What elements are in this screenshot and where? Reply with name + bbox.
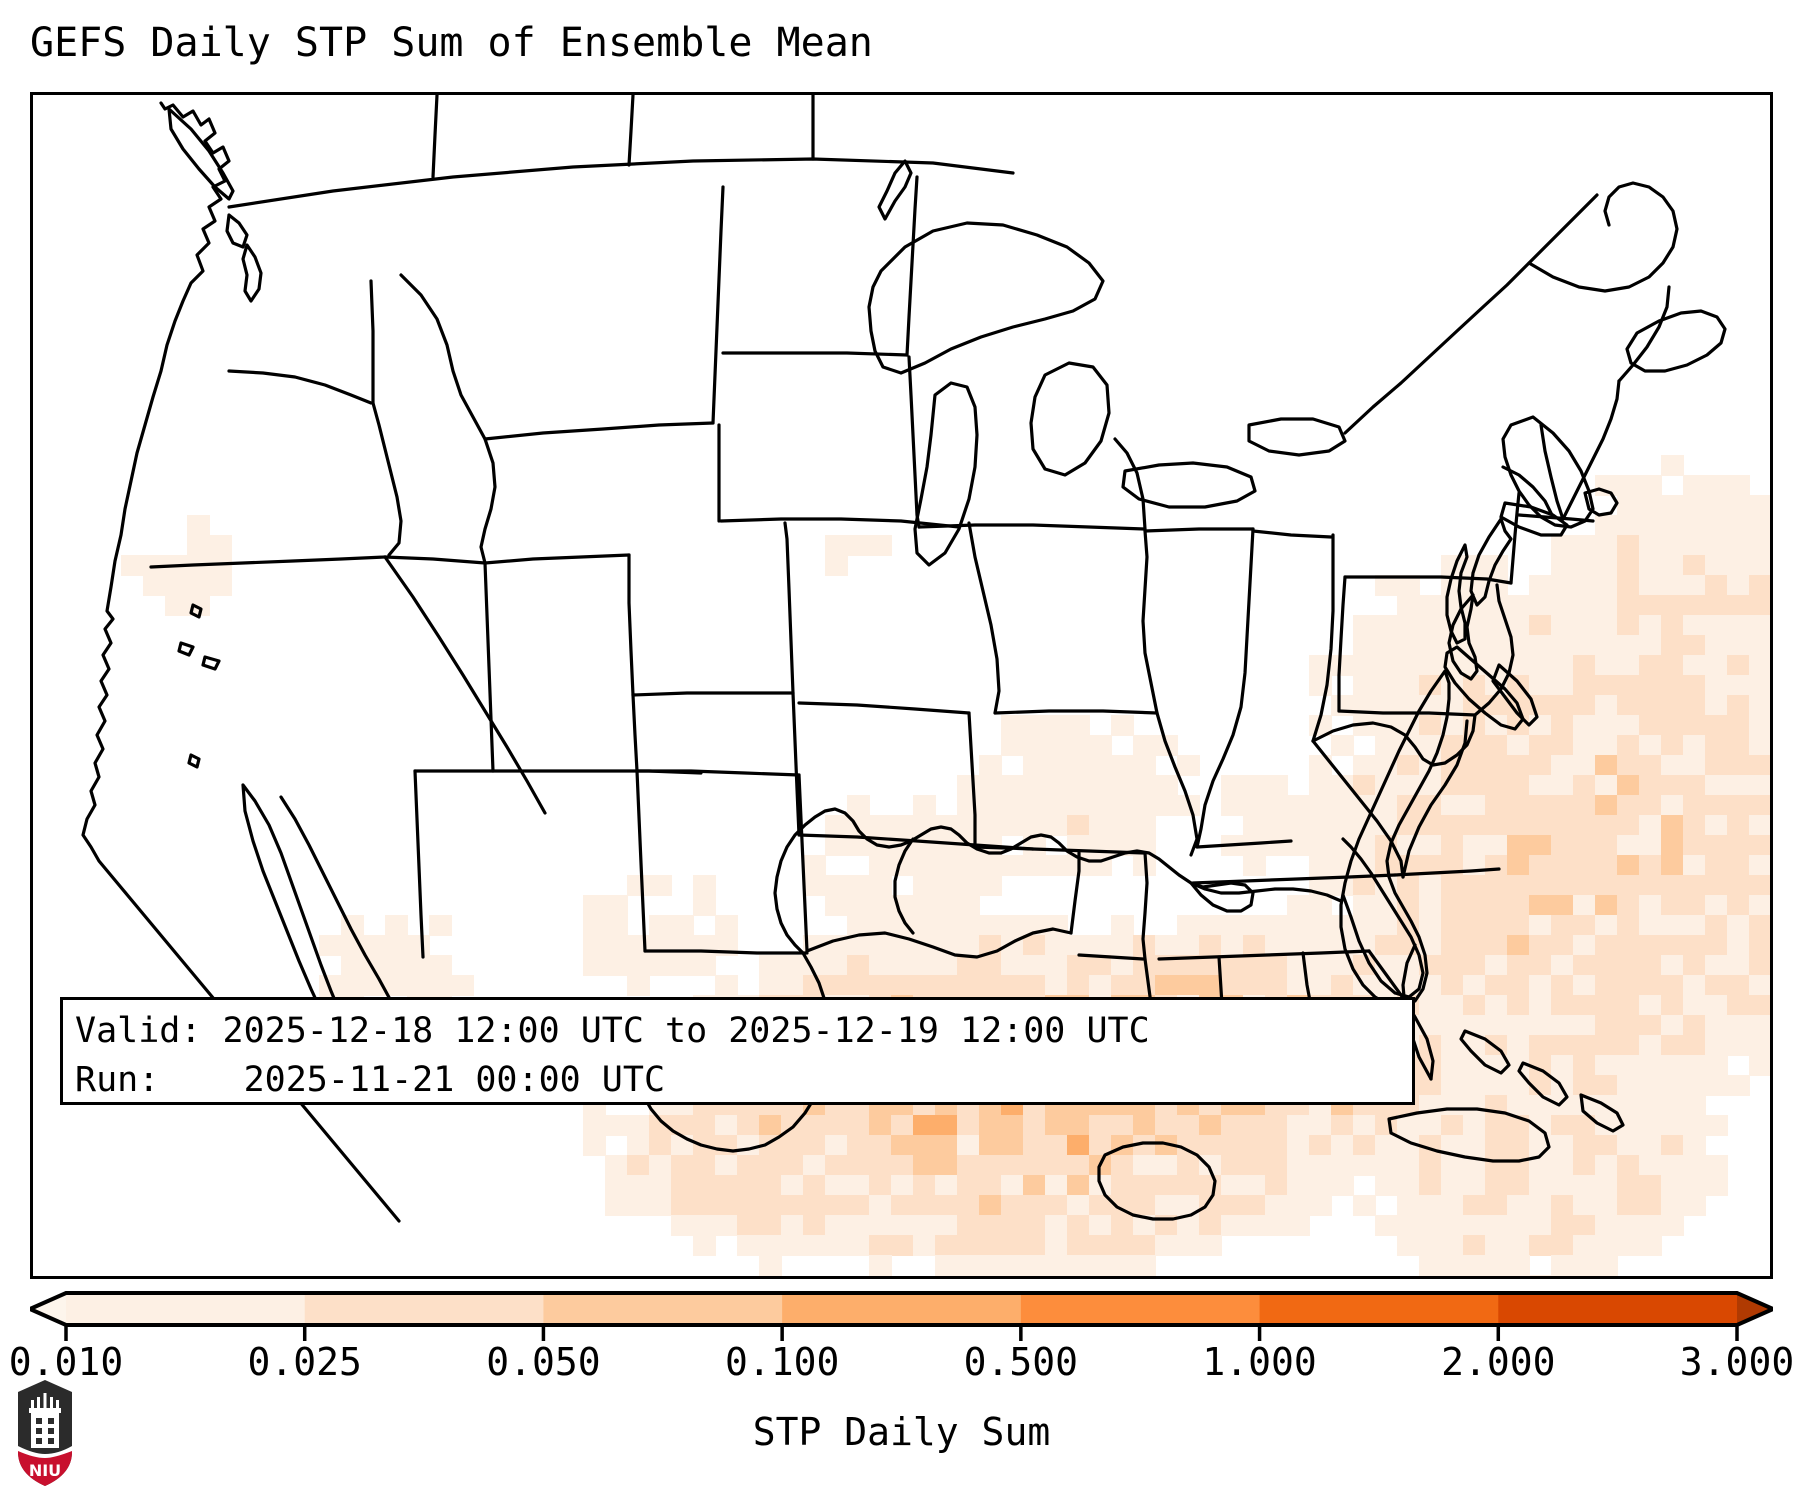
nova-scotia xyxy=(1627,311,1725,371)
page-title: GEFS Daily STP Sum of Ensemble Mean xyxy=(30,20,873,66)
border-ut-co xyxy=(633,695,637,771)
border-sd-mn-ia xyxy=(909,357,919,527)
mississippi-delta xyxy=(1191,883,1253,911)
border-id-wy-ut xyxy=(485,555,629,563)
niu-shield-icon: NIU xyxy=(14,1378,76,1488)
border-az-nm xyxy=(637,771,645,951)
run-time-line: Run: 2025-11-21 00:00 UTC xyxy=(75,1056,1400,1105)
border-in-oh xyxy=(1313,535,1333,741)
border-ky-tn xyxy=(1193,875,1395,883)
border-mo-il-ky xyxy=(1157,713,1197,855)
colorbar-tick-label: 0.025 xyxy=(248,1340,362,1384)
border-wa-or xyxy=(229,371,371,403)
colorbar-band xyxy=(543,1293,782,1325)
cape-cod xyxy=(1585,489,1617,515)
colorbar-band xyxy=(1021,1293,1260,1325)
canada-provincial-bc-ab xyxy=(433,95,437,177)
border-mn-wi xyxy=(1115,439,1145,529)
channel-islands-a xyxy=(179,643,193,655)
valid-time-line: Valid: 2025-12-18 12:00 UTC to 2025-12-1… xyxy=(75,1007,1400,1056)
gulf-of-california xyxy=(281,797,403,1021)
st-lawrence-river xyxy=(1345,195,1597,433)
border-ar-la-tx xyxy=(1071,853,1079,933)
border-ca-nv xyxy=(385,557,545,813)
colorbar-tick-label: 0.500 xyxy=(964,1340,1078,1384)
yucatan-peninsula xyxy=(1099,1143,1215,1219)
lake-huron xyxy=(1031,363,1109,475)
island-guadalupe xyxy=(191,605,201,617)
bahamas-b xyxy=(1519,1063,1567,1105)
border-wy-co-ut xyxy=(629,555,633,695)
border-nc-va xyxy=(1395,869,1499,875)
niu-logo-text: NIU xyxy=(29,1461,61,1480)
border-id-nv xyxy=(385,557,485,563)
colorbar-over-extend xyxy=(1737,1293,1773,1325)
colorbar-tick-label: 2.000 xyxy=(1441,1340,1555,1384)
valid-run-annotation-box: Valid: 2025-12-18 12:00 UTC to 2025-12-1… xyxy=(60,997,1415,1105)
lake-ontario xyxy=(1249,419,1345,455)
border-pa-md xyxy=(1339,711,1475,715)
gulf-of-st-lawrence xyxy=(1529,183,1677,291)
border-id-mt xyxy=(401,275,495,563)
border-nv-ut xyxy=(485,563,493,771)
border-ia-il xyxy=(1143,531,1157,713)
colorbar[interactable] xyxy=(30,1285,1773,1345)
border-mt-nd xyxy=(713,187,723,423)
lake-winnipeg xyxy=(879,161,911,219)
lake-superior xyxy=(869,223,1103,373)
border-co-ks-ne xyxy=(793,693,799,835)
border-il-in xyxy=(1197,529,1253,847)
border-ne-ia-mo xyxy=(969,523,999,713)
colorbar-tick-label: 3.000 xyxy=(1680,1340,1794,1384)
colorbar-axis-label: STP Daily Sum xyxy=(0,1410,1803,1454)
border-md-de-nj xyxy=(1475,585,1513,715)
island-cedros xyxy=(189,755,199,767)
border-tn-ms-al-ga xyxy=(1159,951,1369,959)
lake-michigan xyxy=(915,383,977,565)
border-az-mexico xyxy=(415,771,423,957)
colorbar-tick-label: 1.000 xyxy=(1202,1340,1316,1384)
atlantic-coastline xyxy=(1449,519,1511,679)
chesapeake-delaware-bay xyxy=(1447,545,1467,643)
colorbar-tick-marks xyxy=(66,1325,1737,1341)
bahamas-c xyxy=(1581,1095,1623,1131)
border-or-ca-nv xyxy=(151,557,385,567)
border-mo-ks-ok xyxy=(969,713,975,847)
border-wa-id xyxy=(371,281,373,403)
border-ny-pa-nj xyxy=(1345,577,1511,583)
border-wv-oh-pa xyxy=(1313,715,1475,765)
border-wi-il xyxy=(1145,529,1253,531)
border-wy-ne xyxy=(785,523,793,693)
border-ok-tx xyxy=(807,929,1071,957)
border-nd-sd xyxy=(723,353,907,355)
colorbar-band xyxy=(782,1293,1021,1325)
border-nm-mexico xyxy=(645,951,807,953)
border-wy-co xyxy=(633,693,793,695)
colorbar-bands xyxy=(30,1293,1773,1325)
colorbar-band xyxy=(1498,1293,1737,1325)
cuba xyxy=(1389,1109,1549,1161)
border-mt-wy xyxy=(485,423,713,439)
puget-sound xyxy=(243,245,261,301)
border-in-ky xyxy=(1253,531,1331,537)
colorbar-band xyxy=(1260,1293,1499,1325)
border-nm-tx-ok xyxy=(799,775,807,951)
border-ar-la xyxy=(1079,955,1143,959)
border-il-ky-in xyxy=(1197,841,1291,847)
border-me-canada xyxy=(1619,287,1669,381)
colorbar-svg[interactable] xyxy=(30,1285,1773,1345)
outer-banks xyxy=(1493,665,1537,725)
channel-islands-b xyxy=(203,657,219,669)
canada-provincial-ab-sk xyxy=(629,95,633,165)
border-ar-ms xyxy=(1143,853,1147,959)
colorbar-tick-label: 0.100 xyxy=(725,1340,839,1384)
colorbar-tick-labels: 0.0100.0250.0500.1000.5001.0002.0003.000 xyxy=(30,1340,1773,1390)
border-ia-mn xyxy=(919,525,1145,529)
colorbar-band xyxy=(305,1293,544,1325)
olympic-peninsula-inlet xyxy=(227,215,247,247)
border-or-id xyxy=(373,403,401,555)
colorbar-tick-label: 0.050 xyxy=(486,1340,600,1384)
colorbar-band xyxy=(66,1293,305,1325)
bahamas-a xyxy=(1461,1031,1509,1073)
border-ne-ks xyxy=(799,703,969,713)
border-nd-mn xyxy=(907,177,917,355)
colorbar-under-extend xyxy=(30,1293,66,1325)
border-ia-mo xyxy=(995,711,1157,713)
border-pa-ny xyxy=(1339,577,1345,711)
niu-logo: NIU xyxy=(14,1378,76,1488)
texas-coast-bays xyxy=(895,839,913,933)
southeast-coast xyxy=(1341,671,1449,1007)
